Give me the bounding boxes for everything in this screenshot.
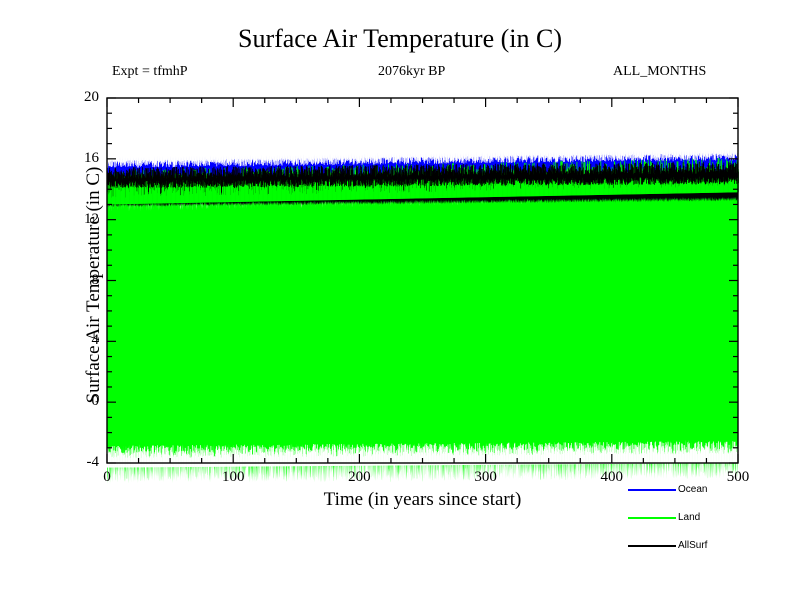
series-band-land — [107, 161, 738, 484]
allsurf-spike — [202, 167, 203, 180]
allsurf-spike — [115, 168, 116, 181]
plot-figure: Surface Air Temperature (in C) Expt = tf… — [0, 0, 800, 600]
allsurf-spike — [161, 168, 162, 181]
allsurf-spike — [203, 167, 204, 180]
